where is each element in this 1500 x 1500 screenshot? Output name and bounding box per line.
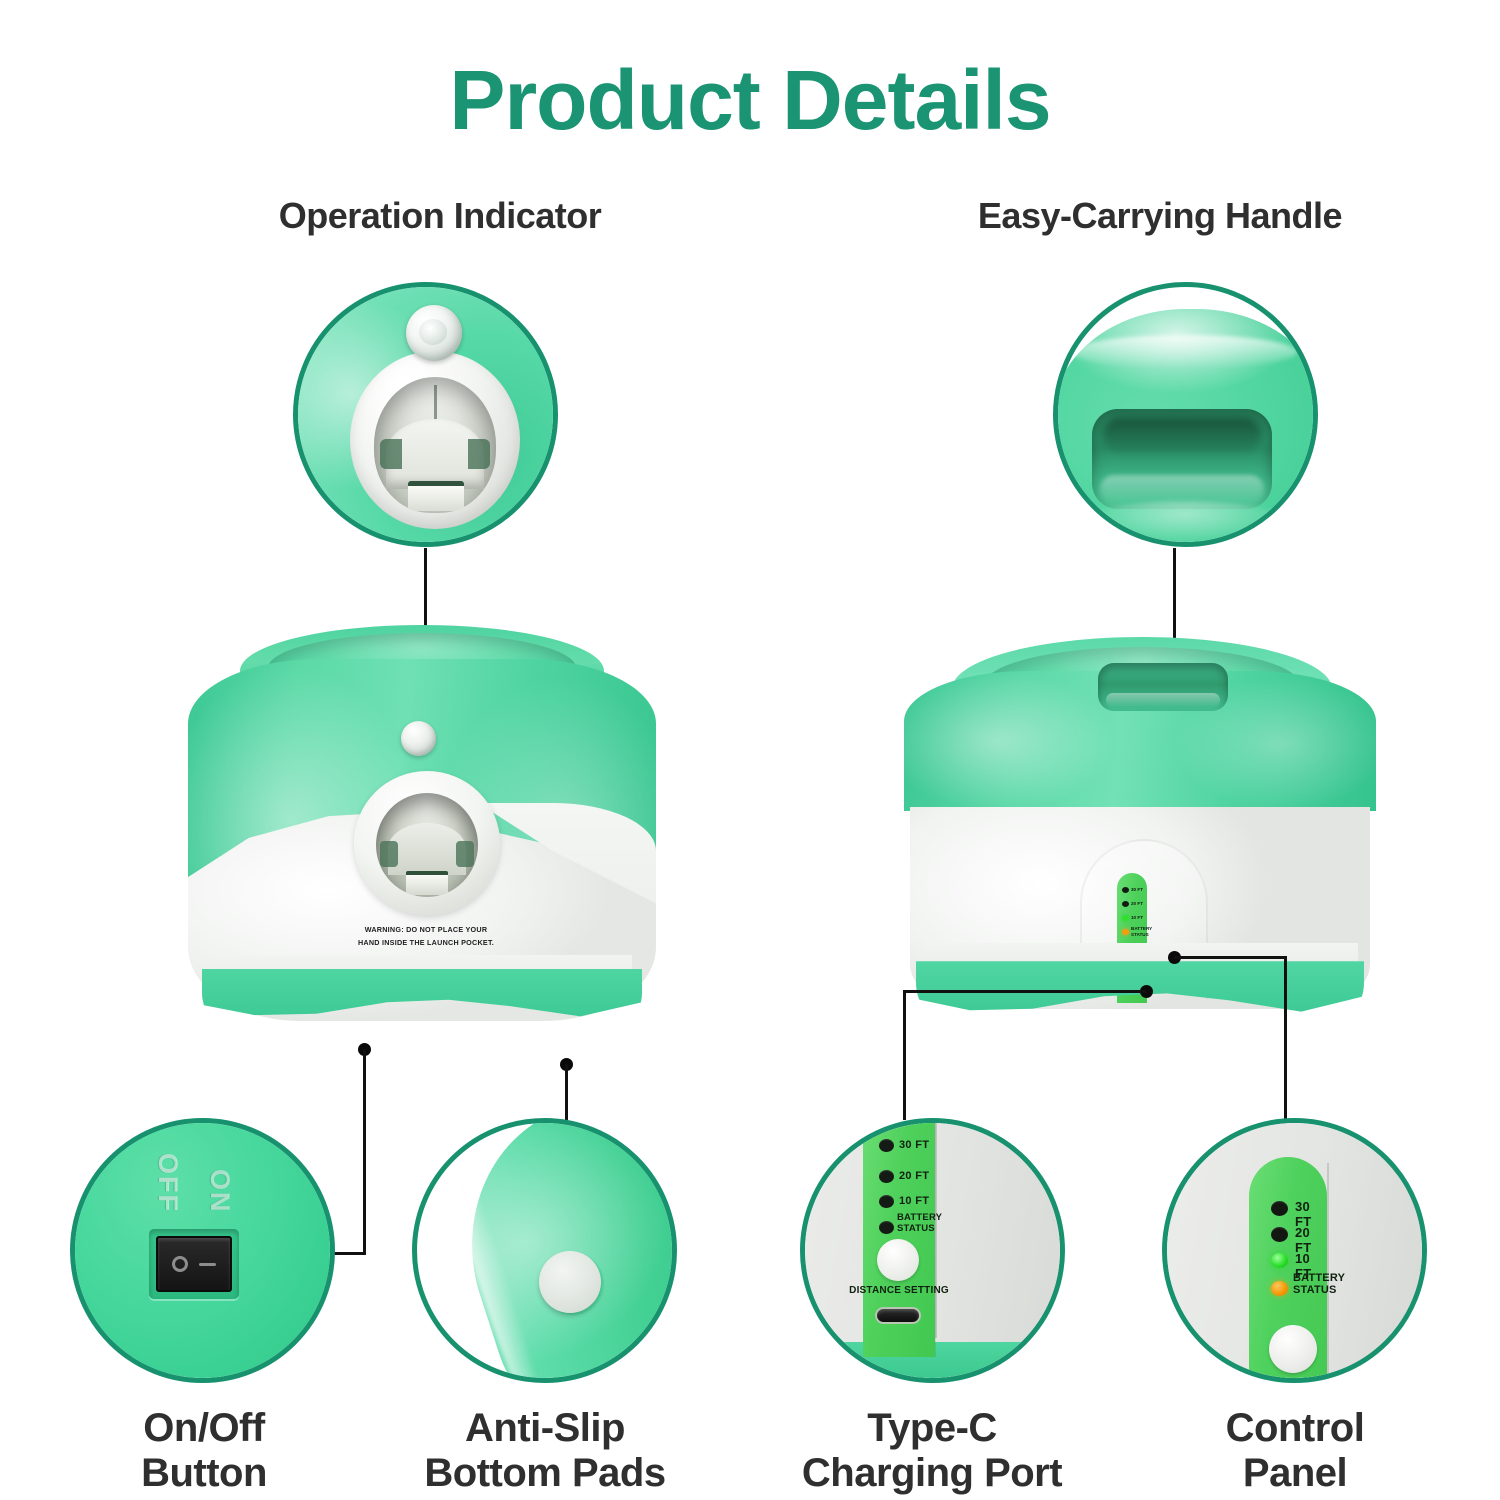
connector-line-control-panel-vertical <box>1284 956 1287 1120</box>
callout-label-typec-port: Type-C Charging Port <box>742 1406 1122 1496</box>
power-off-circle-icon <box>172 1256 188 1272</box>
product-warning-text: WARNING: DO NOT PLACE YOUR HAND INSIDE T… <box>310 923 542 950</box>
motion-sensor-icon <box>406 305 462 361</box>
zoom-circle-typec-port: 30 FT 20 FT 10 FT BATTERY STATUS DISTANC… <box>800 1118 1065 1383</box>
zoom-circle-onoff-button: OFF ON <box>70 1118 335 1383</box>
distance-setting-label-typec: DISTANCE SETTING <box>847 1285 951 1296</box>
connector-line-typec-vertical <box>903 990 906 1120</box>
led-20ft-back <box>1122 901 1129 907</box>
handle-lower-gloss <box>1080 501 1290 545</box>
product-front-view: WARNING: DO NOT PLACE YOUR HAND INSIDE T… <box>182 625 662 1073</box>
led-30ft-typec <box>879 1139 894 1152</box>
connector-line-control-panel-horizontal <box>1174 956 1287 959</box>
led-label-battery-back: BATTERY <box>1131 926 1152 931</box>
motion-sensor <box>401 721 436 756</box>
pocket-shadow-right <box>468 439 490 469</box>
led-10ft-typec <box>879 1195 894 1208</box>
led-label-10ft-typec: 10 FT <box>899 1195 929 1207</box>
anti-slip-pad <box>539 1251 601 1313</box>
warning-line-2: HAND INSIDE THE LAUNCH POCKET. <box>310 936 542 949</box>
led-20ft <box>1271 1227 1288 1242</box>
launch-pocket-main <box>376 793 478 897</box>
handle-gloss <box>1072 335 1297 369</box>
page-title: Product Details <box>0 58 1500 142</box>
switch-off-label: OFF <box>152 1153 183 1213</box>
launch-pocket-cavity <box>374 377 496 513</box>
control-panel-face[interactable]: 30 FT 20 FT 10 FT BATTERY STATUS DISTANC… <box>1249 1157 1327 1383</box>
product-back-view: 30 FT 20 FT 10 FT BATTERY STATUS DISTANC… <box>900 625 1380 1073</box>
led-label-10ft-back: 10 FT <box>1131 915 1143 920</box>
led-20ft-typec <box>879 1170 894 1183</box>
launch-pocket-ring <box>350 351 520 529</box>
led-10ft <box>1271 1253 1288 1268</box>
carrying-handle[interactable] <box>1098 663 1228 711</box>
zoom-circle-antislip-pads <box>412 1118 677 1383</box>
control-panel-label-line-2: Panel <box>1105 1451 1485 1496</box>
led-label-battery: BATTERY <box>1293 1273 1345 1285</box>
led-label-30ft-back: 30 FT <box>1131 887 1143 892</box>
zoom-circle-control-panel: 30 FT 20 FT 10 FT BATTERY STATUS DISTANC… <box>1162 1118 1427 1383</box>
onoff-label-line-2: Button <box>14 1451 394 1496</box>
antislip-label-line-2: Bottom Pads <box>355 1451 735 1496</box>
handle-housing <box>1053 309 1318 547</box>
distance-setting-button[interactable] <box>1269 1325 1317 1373</box>
typec-label-line-1: Type-C <box>742 1406 1122 1451</box>
power-on-bar-icon <box>199 1263 216 1266</box>
callout-label-control-panel: Control Panel <box>1105 1406 1485 1496</box>
zoom-circle-operation-indicator <box>293 282 558 547</box>
switch-recess <box>149 1229 239 1299</box>
onoff-housing: OFF ON <box>73 1121 332 1380</box>
connector-line-typec-horizontal <box>903 990 1146 993</box>
distance-setting-label: DISTANCE SETTING <box>1237 1377 1349 1383</box>
led-30ft-back <box>1122 887 1129 893</box>
warning-line-1: WARNING: DO NOT PLACE YOUR <box>310 923 542 936</box>
antislip-label-line-1: Anti-Slip <box>355 1406 735 1451</box>
infographic-canvas: Product Details Operation Indicator Easy… <box>0 0 1500 1500</box>
handle-grip-opening <box>1092 409 1272 509</box>
control-panel-label-line-1: Control <box>1105 1406 1485 1451</box>
callout-label-onoff-button: On/Off Button <box>14 1406 394 1496</box>
onoff-label-line-1: On/Off <box>14 1406 394 1451</box>
pocket-shadow-right-main <box>456 841 474 867</box>
led-battery-status-back <box>1122 929 1129 935</box>
usb-type-c-port[interactable] <box>875 1307 921 1324</box>
led-label-20ft-typec: 20 FT <box>899 1170 929 1182</box>
led-label-status: STATUS <box>1293 1285 1337 1297</box>
connector-line-antislip <box>565 1064 568 1122</box>
typec-label-line-2: Charging Port <box>742 1451 1122 1496</box>
typec-panel-strip[interactable]: 30 FT 20 FT 10 FT BATTERY STATUS DISTANC… <box>863 1118 935 1357</box>
pocket-arc-main <box>388 823 466 875</box>
launcher-mechanism-main <box>406 871 448 895</box>
callout-label-operation-indicator: Operation Indicator <box>160 196 720 236</box>
switch-on-label: ON <box>204 1169 235 1214</box>
led-label-30ft-typec: 30 FT <box>899 1139 929 1151</box>
connector-line-onoff-vertical <box>363 1049 366 1255</box>
pocket-shadow-left-main <box>380 841 398 867</box>
callout-label-antislip-pads: Anti-Slip Bottom Pads <box>355 1406 735 1496</box>
led-30ft <box>1271 1201 1288 1216</box>
led-label-20ft-back: 20 FT <box>1131 901 1143 906</box>
led-battery-status-typec <box>879 1221 894 1234</box>
led-battery-status <box>1271 1281 1288 1296</box>
led-label-status-back: STATUS <box>1131 932 1149 937</box>
pocket-shadow-left <box>380 439 402 469</box>
typec-panel-seam <box>935 1123 937 1338</box>
led-label-battery-typec: BATTERY <box>897 1213 942 1223</box>
led-10ft-back <box>1122 915 1129 921</box>
led-label-status-typec: STATUS <box>897 1224 935 1234</box>
zoom-circle-carrying-handle <box>1053 282 1318 547</box>
launch-pocket-ring-main <box>354 771 500 915</box>
power-rocker-switch[interactable] <box>156 1236 232 1292</box>
distance-setting-button-typec[interactable] <box>877 1239 919 1281</box>
launcher-mechanism <box>408 481 464 511</box>
callout-label-carrying-handle: Easy-Carrying Handle <box>880 196 1440 236</box>
